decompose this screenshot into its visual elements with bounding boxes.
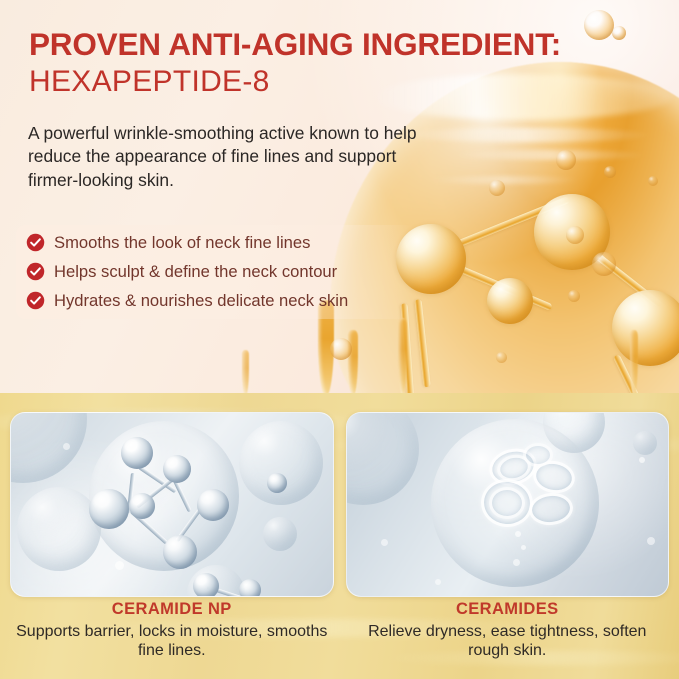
ceramide-np-caption: CERAMIDE NP Supports barrier, locks in m… [10, 600, 334, 670]
intro-paragraph: A powerful wrinkle-smoothing active know… [28, 122, 420, 192]
sparkle-dot [513, 559, 520, 566]
vesicle-ring [523, 443, 553, 467]
benefit-label: Smooths the look of neck fine lines [54, 233, 310, 252]
caption-title: CERAMIDES [346, 600, 670, 620]
oil-drip [242, 350, 249, 396]
oil-bubble [592, 252, 616, 276]
benefit-item: Hydrates & nourishes delicate neck skin [26, 291, 408, 310]
background-bubble [633, 431, 657, 455]
caption-title: CERAMIDE NP [10, 600, 334, 620]
molecule-node [129, 493, 155, 519]
sparkle-dot [521, 545, 526, 550]
oil-bubble [604, 166, 616, 178]
panel-captions: CERAMIDE NP Supports barrier, locks in m… [0, 600, 679, 670]
ceramides-caption: CERAMIDES Relieve dryness, ease tightnes… [346, 600, 670, 670]
check-circle-icon [26, 291, 45, 310]
background-bubble [263, 517, 297, 551]
sparkle-dot [639, 457, 645, 463]
sparkle-dot [515, 531, 521, 537]
page-title: PROVEN ANTI-AGING INGREDIENT: [29, 28, 669, 61]
molecule-node [89, 489, 129, 529]
molecule-node [163, 455, 191, 483]
caption-description: Supports barrier, locks in moisture, smo… [10, 622, 334, 661]
benefit-item: Helps sculpt & define the neck contour [26, 262, 408, 281]
benefits-list: Smooths the look of neck fine lines Help… [16, 225, 416, 319]
check-circle-icon [26, 233, 45, 252]
benefit-label: Helps sculpt & define the neck contour [54, 262, 337, 281]
oil-bubble [496, 352, 507, 363]
molecule-node [612, 290, 679, 366]
sparkle-dot [647, 537, 655, 545]
oil-bubble [330, 338, 352, 360]
oil-bubble [568, 290, 580, 302]
benefit-item: Smooths the look of neck fine lines [26, 233, 408, 252]
check-circle-icon [26, 262, 45, 281]
oil-bubble [566, 226, 584, 244]
oil-bubble [648, 176, 658, 186]
molecule-node [163, 535, 197, 569]
molecule-node [197, 489, 229, 521]
vesicle-ring [489, 487, 525, 519]
oil-streak [400, 128, 650, 142]
hero-section: PROVEN ANTI-AGING INGREDIENT: HEXAPEPTID… [0, 0, 679, 396]
infographic-canvas: PROVEN ANTI-AGING INGREDIENT: HEXAPEPTID… [0, 0, 679, 679]
ceramide-np-image-panel [10, 412, 334, 597]
background-bubble [10, 412, 87, 483]
ceramides-image-panel [346, 412, 670, 597]
molecule-node [193, 573, 219, 597]
oil-bubble [556, 150, 576, 170]
oil-streak [430, 176, 580, 184]
sparkle-dot [63, 443, 70, 450]
molecule-node [487, 278, 533, 324]
molecule-node [121, 437, 153, 469]
ingredient-panels [0, 412, 679, 597]
sparkle-dot [381, 539, 388, 546]
benefit-label: Hydrates & nourishes delicate neck skin [54, 291, 348, 310]
sparkle-dot [115, 561, 124, 570]
molecule-node [239, 579, 261, 597]
background-bubble [346, 412, 419, 505]
oil-streak [455, 150, 645, 160]
oil-bubble [489, 180, 505, 196]
caption-description: Relieve dryness, ease tightness, soften … [346, 622, 670, 661]
ingredient-name: HEXAPEPTIDE-8 [29, 65, 549, 99]
sparkle-dot [435, 579, 441, 585]
molecule-node [267, 473, 287, 493]
background-bubble [239, 421, 323, 505]
